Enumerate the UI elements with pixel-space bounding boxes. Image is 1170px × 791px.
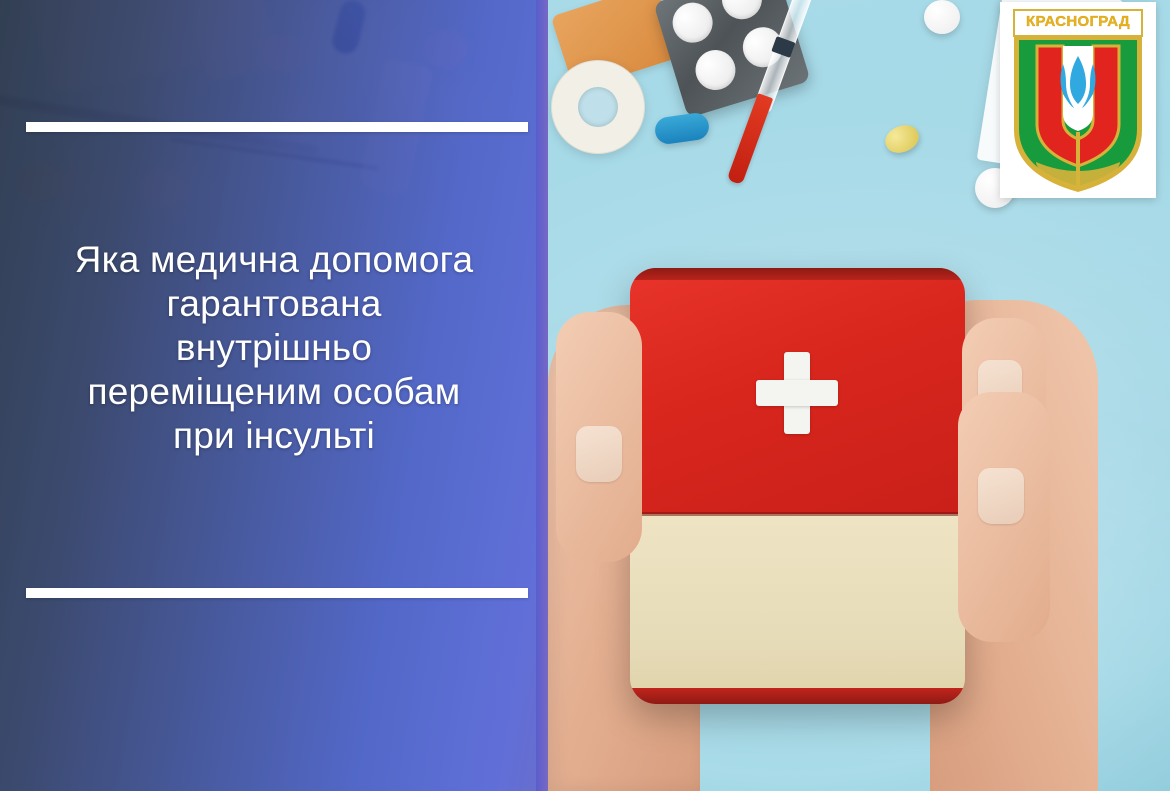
emblem-title: КРАСНОГРАД	[1000, 13, 1156, 30]
kit-seam	[630, 512, 965, 516]
kit-zipper-top	[630, 268, 965, 280]
tablet-icon	[668, 0, 718, 48]
text-panel: Яка медична допомога гарантована внутріш…	[0, 0, 548, 791]
page-title: Яка медична допомога гарантована внутріш…	[14, 238, 534, 458]
kit-zipper-bottom	[630, 688, 965, 704]
kit-bottom-panel	[630, 514, 965, 704]
decorative-rule-top	[26, 122, 528, 132]
first-aid-kit	[630, 268, 965, 704]
krasnohrad-coat-of-arms-logo: КРАСНОГРАД	[1000, 2, 1156, 198]
right-hand-fingernail	[978, 468, 1024, 524]
poster-root: Яка медична допомога гарантована внутріш…	[0, 0, 1170, 791]
decorative-rule-bottom	[26, 588, 528, 598]
medical-cross-icon	[756, 352, 838, 434]
medical-tape-roll-icon	[551, 60, 645, 154]
panel-right-edge	[536, 0, 548, 791]
left-hand-fingernail	[576, 426, 622, 482]
tablet-icon	[691, 45, 741, 95]
tablet-icon	[924, 0, 960, 34]
tablet-icon	[717, 0, 767, 24]
